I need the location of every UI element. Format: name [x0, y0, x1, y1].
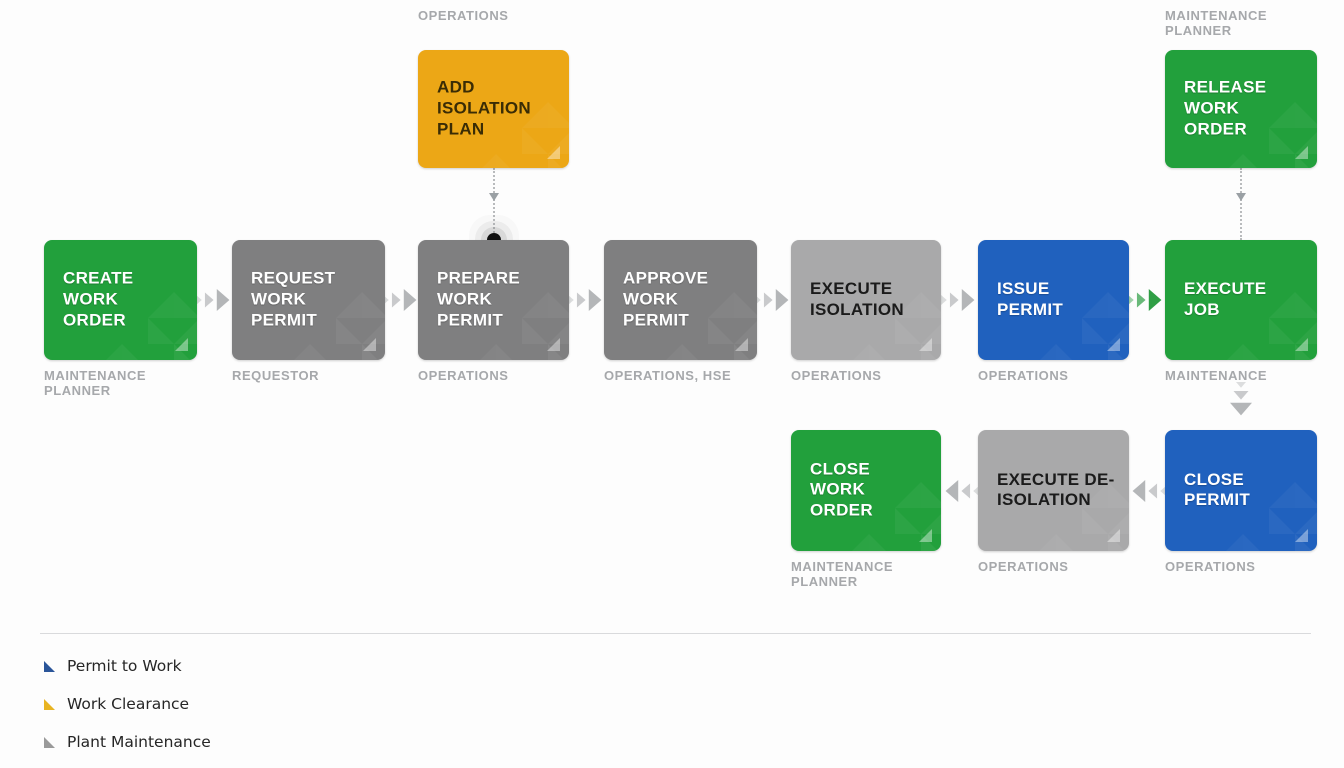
dotted-connector-isolation-plan-to-prepare	[493, 168, 495, 240]
process-node-close-work-order[interactable]: Close Work Order	[791, 430, 941, 551]
legend-divider	[40, 633, 1311, 634]
flow-arrow-create-to-request	[193, 285, 237, 315]
process-node-label: Approve Work Permit	[623, 269, 745, 332]
corner-triangle-icon	[1295, 529, 1308, 542]
legend-triangle-icon	[44, 661, 55, 672]
corner-triangle-icon	[1295, 146, 1308, 159]
dotted-connector-arrowhead-icon	[487, 192, 501, 202]
process-node-label: Release Work Order	[1184, 78, 1305, 141]
process-node-execute-de-isolation[interactable]: Execute De- Isolation	[978, 430, 1129, 551]
legend-item-label: Work Clearance	[67, 695, 189, 713]
legend-triangle-icon	[44, 699, 55, 710]
process-node-execute-job[interactable]: Execute Job	[1165, 240, 1317, 360]
legend-item-plant-maintenance[interactable]: Plant Maintenance	[44, 733, 211, 751]
process-node-label: Add Isolation Plan	[437, 78, 557, 141]
process-node-label: Request Work Permit	[251, 269, 373, 332]
corner-triangle-icon	[547, 338, 560, 351]
corner-triangle-icon	[547, 146, 560, 159]
flow-arrow-close-permit-to-de-iso	[1125, 476, 1169, 506]
flow-arrow-execute-iso-to-issue	[938, 285, 982, 315]
corner-triangle-icon	[1107, 338, 1120, 351]
process-node-approve-work-permit[interactable]: Approve Work Permit	[604, 240, 757, 360]
corner-triangle-icon	[175, 338, 188, 351]
workflow-diagram-canvas: Create Work OrderMaintenance PlannerRequ…	[0, 0, 1344, 768]
legend-item-permit-to-work[interactable]: Permit to Work	[44, 657, 182, 675]
process-node-label: Close Permit	[1184, 470, 1305, 512]
corner-triangle-icon	[919, 338, 932, 351]
corner-triangle-icon	[363, 338, 376, 351]
process-node-add-isolation-plan[interactable]: Add Isolation Plan	[418, 50, 569, 168]
process-node-label: Execute Isolation	[810, 279, 929, 321]
process-node-label: Create Work Order	[63, 269, 185, 332]
role-label-execute-job: Maintenance	[1165, 368, 1344, 383]
legend-item-work-clearance[interactable]: Work Clearance	[44, 695, 189, 713]
process-node-label: Close Work Order	[810, 459, 929, 522]
flow-arrow-execute-job-to-close-permit	[1226, 379, 1256, 423]
process-node-label: Issue Permit	[997, 279, 1117, 321]
flow-arrow-request-to-prepare	[380, 285, 424, 315]
process-node-execute-isolation[interactable]: Execute Isolation	[791, 240, 941, 360]
process-node-request-work-permit[interactable]: Request Work Permit	[232, 240, 385, 360]
flow-arrow-issue-to-execute-job	[1125, 285, 1169, 315]
legend-triangle-icon	[44, 737, 55, 748]
process-node-issue-permit[interactable]: Issue Permit	[978, 240, 1129, 360]
corner-triangle-icon	[735, 338, 748, 351]
corner-triangle-icon	[919, 529, 932, 542]
role-label-release-work-order: Maintenance Planner	[1165, 8, 1344, 39]
process-node-label: Execute Job	[1184, 279, 1305, 321]
process-node-close-permit[interactable]: Close Permit	[1165, 430, 1317, 551]
process-node-label: Execute De- Isolation	[997, 470, 1117, 512]
process-node-label: Prepare Work Permit	[437, 269, 557, 332]
flow-arrow-de-iso-to-close-wo	[938, 476, 982, 506]
flow-arrow-approve-to-execute-iso	[752, 285, 796, 315]
role-label-execute-de-isolation: Operations	[978, 559, 1199, 574]
dotted-connector-release-wo-to-execute-job	[1240, 168, 1242, 240]
legend-item-label: Plant Maintenance	[67, 733, 211, 751]
corner-triangle-icon	[1295, 338, 1308, 351]
legend-item-label: Permit to Work	[67, 657, 182, 675]
corner-triangle-icon	[1107, 529, 1120, 542]
role-label-add-isolation-plan: Operations	[418, 8, 639, 23]
dotted-connector-arrowhead-icon	[1234, 192, 1248, 202]
process-node-create-work-order[interactable]: Create Work Order	[44, 240, 197, 360]
process-node-prepare-work-permit[interactable]: Prepare Work Permit	[418, 240, 569, 360]
role-label-close-work-order: Maintenance Planner	[791, 559, 1011, 590]
process-node-release-work-order[interactable]: Release Work Order	[1165, 50, 1317, 168]
flow-arrow-prepare-to-approve	[565, 285, 609, 315]
